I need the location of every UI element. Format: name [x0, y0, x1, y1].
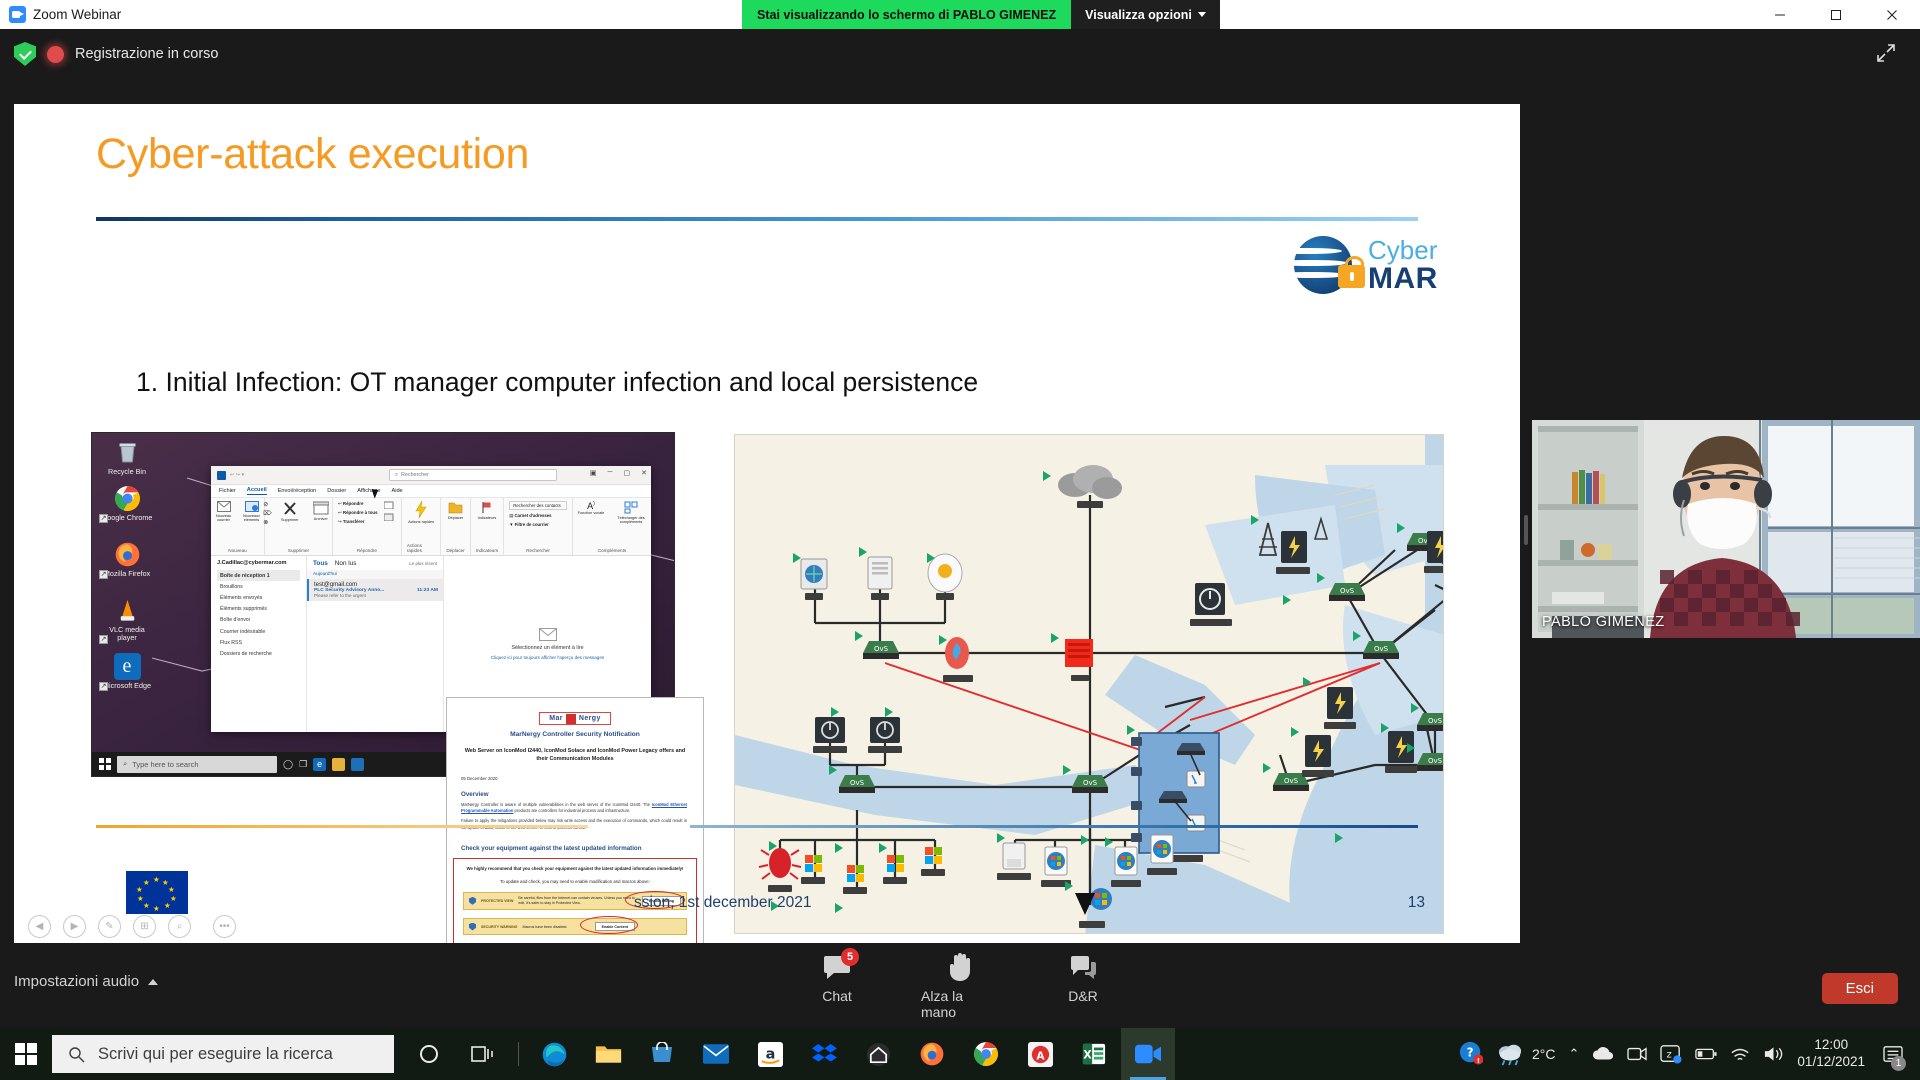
- logo-text-left: Mar: [549, 715, 563, 722]
- shared-slide: Cyber-attack execution 1. Initial Infect…: [14, 104, 1520, 952]
- lightning-icon[interactable]: [414, 501, 428, 518]
- security-warning-bar: SECURITY WARNING Macros have been disabl…: [463, 918, 687, 935]
- folder-inbox[interactable]: Boîte de réception 1: [217, 570, 300, 581]
- svg-text:OvS: OvS: [1284, 777, 1299, 785]
- window-title: Zoom Webinar: [33, 7, 121, 22]
- sharing-banner-label: Stai visualizzando lo schermo di PABLO G…: [742, 0, 1071, 29]
- cortana-icon[interactable]: [402, 1028, 456, 1080]
- desktop-icon-label: Recycle Bin: [108, 467, 146, 476]
- maximize-button[interactable]: [1808, 0, 1864, 29]
- view-options-button[interactable]: Visualizza opzioni: [1071, 0, 1220, 29]
- outlook-ribbon: Nouveau courrier Nouveaux éléments Nouve…: [211, 498, 651, 556]
- svg-text:OvS: OvS: [1083, 779, 1098, 787]
- outlook-app-icon: [217, 471, 226, 480]
- help-icon[interactable]: ?!: [1459, 1041, 1483, 1068]
- battery-icon[interactable]: [1695, 1046, 1717, 1062]
- address-book-button[interactable]: ▤ Carnet d'adresses: [509, 513, 567, 519]
- message-time: 11:23 AM: [417, 588, 438, 593]
- outlook-folder-pane: J.Cadillac@cybermar.com Boîte de récepti…: [211, 556, 307, 732]
- it-hosts-group: [801, 554, 962, 600]
- svg-text:OvS: OvS: [1428, 717, 1443, 725]
- reading-pane-title: Sélectionnez un élément à lire: [511, 645, 583, 651]
- dropbox-icon[interactable]: [797, 1028, 851, 1080]
- onedrive-icon[interactable]: [1592, 1046, 1614, 1062]
- outlook-close-button[interactable]: ✕: [641, 469, 647, 477]
- participant-name-label: PABLO GIMENEZ: [1542, 614, 1665, 630]
- zoom-icon[interactable]: [1121, 1028, 1175, 1080]
- annotation-ellipse: [580, 916, 638, 934]
- section-heading-check: Check your equipment against the latest …: [461, 845, 703, 852]
- raise-hand-label: Alza la mano: [921, 988, 999, 1020]
- ignore-icon[interactable]: ⊘: [263, 501, 271, 508]
- message-list-header: Tous Non lus Le plus récent: [307, 556, 443, 570]
- ribbon-group-rechercher: Rechercher des contacts ▤ Carnet d'adres…: [504, 498, 573, 555]
- malware-bug-node: [759, 848, 801, 892]
- outlook-title-bar: ↩ ↪ ▾ ⌕ Rechercher ▣ ─ ▢ ✕: [211, 466, 651, 485]
- video-panel-drag-handle[interactable]: [1524, 515, 1528, 545]
- inner-search-placeholder: Type here to search: [132, 760, 198, 769]
- zoom-app-icon: [9, 6, 26, 23]
- message-list-item[interactable]: test@gmail.com PLC Security Advisory Ann…: [307, 579, 443, 601]
- excel-icon[interactable]: X: [1067, 1028, 1121, 1080]
- temperature-label: 2°C: [1532, 1046, 1556, 1062]
- padlock-icon: [1338, 265, 1365, 288]
- rain-cloud-icon: [1496, 1042, 1524, 1066]
- mail-icon[interactable]: [689, 1028, 743, 1080]
- eu-flag-logo: ★ ★ ★ ★ ★ ★ ★ ★ ★ ★: [126, 871, 188, 914]
- ribbon-group-actions-rapides: Actions rapides Actions rapides: [402, 498, 442, 555]
- close-button[interactable]: [1864, 0, 1920, 29]
- svg-text:A: A: [1036, 1050, 1045, 1062]
- message-preview: Please refer to the urgent: [314, 593, 438, 598]
- taskbar-clock[interactable]: 12:00 01/12/2021: [1797, 1037, 1865, 1071]
- raise-hand-button[interactable]: Alza la mano: [921, 952, 999, 1020]
- svg-text:OvS: OvS: [850, 779, 865, 787]
- folder-outbox[interactable]: Boîte d'envoi: [217, 615, 300, 626]
- recording-indicator-icon: [47, 46, 64, 63]
- start-button[interactable]: [0, 1028, 52, 1080]
- footer-divider-right: [690, 825, 1418, 828]
- file-explorer-icon[interactable]: [581, 1028, 635, 1080]
- pen-tool-button[interactable]: ✎: [98, 915, 121, 938]
- filter-mail-button[interactable]: ▼ Filtre de courrier: [509, 522, 567, 527]
- reply-label: Répondre: [343, 501, 364, 506]
- system-tray: ?! 2°C ⌃ z 12:00 01/12/2021 1: [1459, 1028, 1920, 1080]
- desktop-icon-edge[interactable]: e ↗ Microsoft Edge: [100, 653, 154, 690]
- amazon-icon[interactable]: a: [743, 1028, 797, 1080]
- new-mail-label: Nouveau courrier: [212, 514, 236, 522]
- ribbon-group-nouveau: Nouveau courrier Nouveaux éléments Nouve…: [211, 498, 265, 555]
- desktop-icon-label: Mozilla Firefox: [104, 569, 150, 578]
- zoom-meeting-toolbar: Impostazioni audio 5 Chat Alza la mano D…: [0, 943, 1920, 1028]
- edge-icon[interactable]: [527, 1028, 581, 1080]
- recycle-bin-icon: [114, 439, 141, 466]
- slide-title: Cyber-attack execution: [96, 130, 529, 179]
- svg-text:z: z: [1667, 1050, 1672, 1061]
- task-view-icon[interactable]: [456, 1028, 510, 1080]
- outlook-ribbon-tabs: Fichier Accueil Envoi/réception Dossier …: [211, 485, 651, 498]
- new-items-label: Nouveaux éléments: [240, 514, 264, 522]
- document-title: MarNergy Controller Security Notificatio…: [447, 731, 703, 738]
- ribbon-group-complements: A) Fonction vocale Télécharger des compl…: [573, 498, 651, 555]
- qa-icon: [1069, 952, 1097, 982]
- qa-label: D&R: [1068, 988, 1098, 1004]
- clock-time: 12:00: [1797, 1037, 1865, 1054]
- wave-shape: [1272, 260, 1348, 266]
- ribbon-group-label: Compléments: [598, 548, 626, 555]
- outlook-window-controls: ▣ ─ ▢ ✕: [590, 469, 647, 477]
- speak-function-button[interactable]: A) Fonction vocale: [576, 501, 606, 524]
- firefox-icon[interactable]: [905, 1028, 959, 1080]
- edge-icon[interactable]: e: [313, 758, 326, 771]
- junk-icon[interactable]: ⊗: [263, 519, 271, 526]
- shortcut-arrow-icon: ↗: [99, 514, 108, 523]
- archive-label: Archiver: [308, 517, 334, 521]
- section-heading-overview: Overview: [461, 791, 703, 798]
- screen-share-status: Stai visualizzando lo schermo di PABLO G…: [742, 0, 1220, 29]
- outlook-window: ↩ ↪ ▾ ⌕ Rechercher ▣ ─ ▢ ✕ Fichier Accue…: [211, 466, 651, 732]
- warning-line-1: We highly recommend that you check your …: [459, 866, 691, 873]
- taskbar-separator: [518, 1042, 519, 1066]
- internet-cloud-node: [1058, 465, 1122, 508]
- overview-text-b: products are controllers for industrial …: [513, 808, 630, 813]
- title-divider: [96, 217, 1418, 221]
- message-date-group: Aujourd'hui: [307, 570, 443, 579]
- edge-icon: e: [114, 653, 141, 680]
- new-items-button[interactable]: Nouveaux éléments: [240, 501, 264, 522]
- ribbon-group-label: Actions rapides: [407, 543, 436, 555]
- ribbon-group-indicateurs: Indicateurs Indicateurs: [471, 498, 504, 555]
- shield-icon: [469, 897, 476, 905]
- desktop-icon-label: VLC media player: [109, 625, 145, 642]
- ribbon-group-label: Supprimer: [288, 548, 309, 555]
- notification-count-badge: 1: [1891, 1056, 1906, 1071]
- sort-order-button[interactable]: Le plus récent: [409, 561, 437, 566]
- slide-page-number: 13: [1408, 894, 1425, 912]
- meeting-icon[interactable]: [384, 501, 394, 509]
- delete-label: Supprimer: [277, 518, 303, 522]
- desktop-icon-label: Google Chrome: [102, 513, 153, 522]
- chevron-up-icon: [148, 979, 158, 985]
- taskbar-app-icons: a A X: [402, 1028, 1175, 1080]
- file-explorer-icon[interactable]: [332, 758, 345, 771]
- svg-text:OvS: OvS: [1428, 757, 1443, 765]
- get-addins-label: Télécharger des compléments: [614, 516, 648, 524]
- qa-button[interactable]: D&R: [1044, 952, 1122, 1020]
- cybermar-logo: Cyber MAR: [1270, 232, 1442, 298]
- camera-icon[interactable]: [1627, 1045, 1647, 1063]
- desktop-icon-chrome[interactable]: ↗ Google Chrome: [100, 485, 154, 522]
- marnergy-logo: Mar Nergy: [539, 712, 611, 725]
- ribbon-tab-aide[interactable]: Aide: [391, 488, 402, 494]
- reading-pane-link[interactable]: Cliquez ici pour toujours afficher l'ape…: [491, 655, 604, 660]
- search-icon: ⌕: [395, 472, 398, 479]
- chat-label: Chat: [822, 988, 852, 1004]
- svg-text:OvS: OvS: [1340, 587, 1355, 595]
- quick-access-toolbar[interactable]: ↩ ↪ ▾: [230, 472, 244, 478]
- folder-drafts[interactable]: Brouillons: [217, 581, 300, 592]
- leave-meeting-button[interactable]: Esci: [1822, 973, 1898, 1004]
- new-mail-button[interactable]: Nouveau courrier: [212, 501, 236, 522]
- ribbon-group-supprimer: ⊘ ⌦ ⊗ Supprimer Archiver Sup: [265, 498, 333, 555]
- shortcut-arrow-icon: ↗: [99, 570, 108, 579]
- outlook-account-name[interactable]: J.Cadillac@cybermar.com: [217, 560, 300, 566]
- addins-icon: [624, 501, 638, 514]
- forward-label: Transférer: [343, 519, 364, 524]
- audio-settings-button[interactable]: Impostazioni audio: [14, 973, 158, 990]
- ribbon-group-repondre: ↩ Répondre ↩ Répondre à tous ↪ Transfére…: [333, 498, 402, 555]
- overview-text-a: MarNergy Controller is aware of multiple…: [461, 802, 652, 807]
- cortana-icon[interactable]: ◯: [283, 759, 293, 770]
- cleanup-icon[interactable]: ⌦: [263, 510, 271, 517]
- slide-footer-text: ssion, 1st december 2021: [634, 894, 812, 912]
- recording-bar: Registrazione in corso: [0, 29, 1920, 79]
- scada-hmi-node: [1190, 583, 1232, 626]
- desktop-icon-label: Microsoft Edge: [103, 681, 151, 690]
- show-hidden-icons-button[interactable]: ⌃: [1569, 1046, 1580, 1062]
- ribbon-group-label: Répondre: [357, 548, 377, 555]
- terminal-device-nodes: [813, 717, 902, 753]
- recording-status-label: Registrazione in corso: [75, 46, 218, 62]
- address-book-label: Carnet d'adresses: [514, 513, 551, 518]
- houzz-icon[interactable]: [851, 1028, 905, 1080]
- chrome-icon: [114, 485, 141, 512]
- shortcut-arrow-icon: ↗: [99, 682, 108, 691]
- folder-rss[interactable]: Flux RSS: [217, 637, 300, 648]
- search-icon: ⌕: [123, 759, 127, 769]
- enter-fullscreen-button[interactable]: [1875, 42, 1897, 64]
- toolbar-center-buttons: 5 Chat Alza la mano D&R: [798, 952, 1122, 1020]
- ribbon-group-label: Indicateurs: [476, 548, 498, 555]
- video-feed: [1532, 420, 1920, 638]
- ribbon-group-label: Nouveau: [228, 548, 246, 555]
- folder-deleted[interactable]: Éléments supprimés: [217, 604, 300, 615]
- slide-subtitle: 1. Initial Infection: OT manager compute…: [136, 367, 978, 398]
- more-options-button[interactable]: •••: [213, 915, 236, 938]
- flags-label: Indicateurs: [478, 516, 497, 520]
- outlook-ribbon-display-button[interactable]: ▣: [590, 469, 597, 477]
- filter-tab-all[interactable]: Tous: [313, 560, 328, 567]
- acrobat-icon[interactable]: A: [1013, 1028, 1067, 1080]
- wave-shape: [1276, 272, 1346, 278]
- delete-button[interactable]: Supprimer: [277, 501, 303, 522]
- document-date: 05 December 2020: [461, 776, 703, 781]
- footer-divider-left: [96, 825, 588, 828]
- chat-button[interactable]: 5 Chat: [798, 952, 876, 1020]
- screenshot-network-topology: OvS OvS OvS OvS OvS OvS OvS OvS OvS: [734, 434, 1444, 934]
- taskbar-search-box[interactable]: Scrivi qui per eseguire la ricerca: [52, 1035, 394, 1073]
- svg-text:OvS: OvS: [874, 645, 889, 653]
- folder-sent[interactable]: Éléments envoyés: [217, 592, 300, 603]
- desktop-icon-vlc[interactable]: ↗ VLC media player: [100, 597, 154, 643]
- filter-mail-label: Filtre de courrier: [515, 522, 549, 527]
- ribbon-tab-fichier[interactable]: Fichier: [219, 488, 236, 494]
- filter-tab-unread[interactable]: Non lus: [335, 560, 357, 567]
- microsoft-store-icon[interactable]: [635, 1028, 689, 1080]
- outlook-maximize-button[interactable]: ▢: [624, 469, 631, 477]
- ribbon-tab-accueil[interactable]: Accueil: [247, 487, 267, 495]
- start-button[interactable]: [99, 758, 111, 770]
- volume-icon[interactable]: [1763, 1045, 1784, 1063]
- shortcut-arrow-icon: ↗: [99, 635, 108, 644]
- archive-button[interactable]: Archiver: [308, 501, 334, 521]
- shield-icon: [469, 923, 476, 931]
- firefox-icon: [114, 541, 141, 568]
- logo-text-right: Nergy: [579, 715, 601, 722]
- desktop-icon-firefox[interactable]: ↗ Mozilla Firefox: [100, 541, 154, 578]
- svg-text:?: ?: [1467, 1045, 1474, 1059]
- svg-text:a: a: [765, 1046, 775, 1062]
- svg-text:!: !: [1477, 1056, 1480, 1065]
- weather-widget[interactable]: 2°C: [1496, 1042, 1556, 1066]
- document-subtitle: Web Server on IconMod I2440, IconMod Sol…: [463, 747, 687, 764]
- task-view-icon[interactable]: ❐: [299, 759, 307, 770]
- speak-label: Fonction vocale: [576, 511, 606, 515]
- chat-unread-badge: 5: [841, 948, 859, 966]
- outlook-taskbar-icon[interactable]: [351, 758, 364, 771]
- firewall-node: [943, 637, 973, 682]
- taskbar-search-placeholder: Scrivi qui per eseguire la ricerca: [98, 1045, 333, 1064]
- folder-search[interactable]: Dossiers de recherche: [217, 648, 300, 659]
- previous-slide-button[interactable]: ◀: [28, 915, 51, 938]
- window-title-bar: Zoom Webinar Stai visualizzando lo scher…: [0, 0, 1920, 29]
- svg-text:X: X: [1083, 1049, 1092, 1062]
- outlook-search-placeholder: Rechercher: [401, 472, 429, 478]
- reply-button[interactable]: ↩ Répondre: [338, 501, 378, 507]
- search-icon: [68, 1046, 85, 1063]
- security-warning-label: SECURITY WARNING: [481, 925, 517, 929]
- security-shield-icon[interactable]: [14, 42, 36, 66]
- notification-center-button[interactable]: 1: [1878, 1028, 1908, 1080]
- chevron-down-icon: [1198, 12, 1206, 17]
- vlc-icon: [114, 597, 141, 624]
- grid-view-button[interactable]: ⊞: [133, 915, 156, 938]
- folder-junk[interactable]: Courrier indésirable: [217, 626, 300, 637]
- raise-hand-icon: [948, 952, 972, 982]
- vessel-subnet-group: [1131, 733, 1219, 862]
- chrome-icon[interactable]: [959, 1028, 1013, 1080]
- protected-view-text: Be careful, files from the Internet can …: [518, 896, 637, 906]
- network-topology-svg: OvS OvS OvS OvS OvS OvS OvS OvS OvS: [735, 435, 1444, 934]
- windows-logo-icon: [15, 1043, 37, 1065]
- audio-settings-label: Impostazioni audio: [14, 973, 139, 990]
- ribbon-group-deplacer: Déplacer Déplacer: [441, 498, 470, 555]
- window-controls: [1752, 0, 1920, 29]
- forward-button[interactable]: ↪ Transférer: [338, 519, 378, 525]
- reply-all-label: Répondre à tous: [343, 510, 378, 515]
- ribbon-tab-dossier[interactable]: Dossier: [327, 488, 346, 494]
- next-slide-button[interactable]: ▶: [63, 915, 86, 938]
- title-bar-left: Zoom Webinar: [0, 6, 121, 23]
- find-contacts-button[interactable]: Rechercher des contacts: [509, 501, 567, 510]
- logo-square-icon: [566, 714, 576, 724]
- wifi-icon[interactable]: [1730, 1046, 1750, 1063]
- svg-text:OvS: OvS: [1374, 645, 1389, 653]
- outlook-message-list: Tous Non lus Le plus récent Aujourd'hui …: [307, 556, 444, 732]
- desktop-icon-recycle-bin[interactable]: Recycle Bin: [100, 439, 154, 476]
- view-options-label: Visualizza opzioni: [1085, 8, 1192, 22]
- more-respond-icon[interactable]: [384, 513, 394, 521]
- ribbon-tab-envoi-reception[interactable]: Envoi/réception: [278, 488, 317, 494]
- zoom-tool-button[interactable]: ⌕: [168, 915, 191, 938]
- clock-date: 01/12/2021: [1797, 1054, 1865, 1071]
- flag-icon[interactable]: [481, 501, 493, 514]
- windows-taskbar: Scrivi qui per eseguire la ricerca a: [0, 1028, 1920, 1080]
- empty-mail-icon: [539, 628, 557, 641]
- protected-view-label: PROTECTED VIEW: [481, 899, 513, 903]
- participant-video-panel[interactable]: PABLO GIMENEZ: [1532, 420, 1920, 638]
- windows-workstation-nodes: [801, 847, 945, 894]
- outlook-search-input[interactable]: ⌕ Rechercher: [389, 469, 557, 481]
- reply-all-button[interactable]: ↩ Répondre à tous: [338, 510, 378, 516]
- minimize-button[interactable]: [1752, 0, 1808, 29]
- get-addins-button[interactable]: Télécharger des compléments: [614, 501, 648, 524]
- move-label: Déplacer: [448, 516, 463, 520]
- slide-navigation-controls: ◀ ▶ ✎ ⊞ ⌕ •••: [28, 915, 236, 938]
- warning-line-2: To update and check, you may need to ena…: [459, 879, 691, 886]
- attacker-node: [1065, 639, 1093, 681]
- logo-mar-text: MAR: [1368, 262, 1438, 296]
- quick-actions-label: Actions rapides: [408, 520, 434, 524]
- ribbon-group-label: Déplacer: [446, 548, 464, 555]
- wave-shape: [1270, 248, 1342, 254]
- move-folder-icon[interactable]: [448, 501, 463, 514]
- zoom-tray-icon[interactable]: z: [1660, 1044, 1682, 1064]
- overview-paragraph-1: MarNergy Controller is aware of multiple…: [461, 802, 687, 815]
- outlook-minimize-button[interactable]: ─: [608, 469, 613, 477]
- inner-search-box[interactable]: ⌕ Type here to search: [117, 756, 277, 773]
- ribbon-group-label: Rechercher: [526, 548, 550, 555]
